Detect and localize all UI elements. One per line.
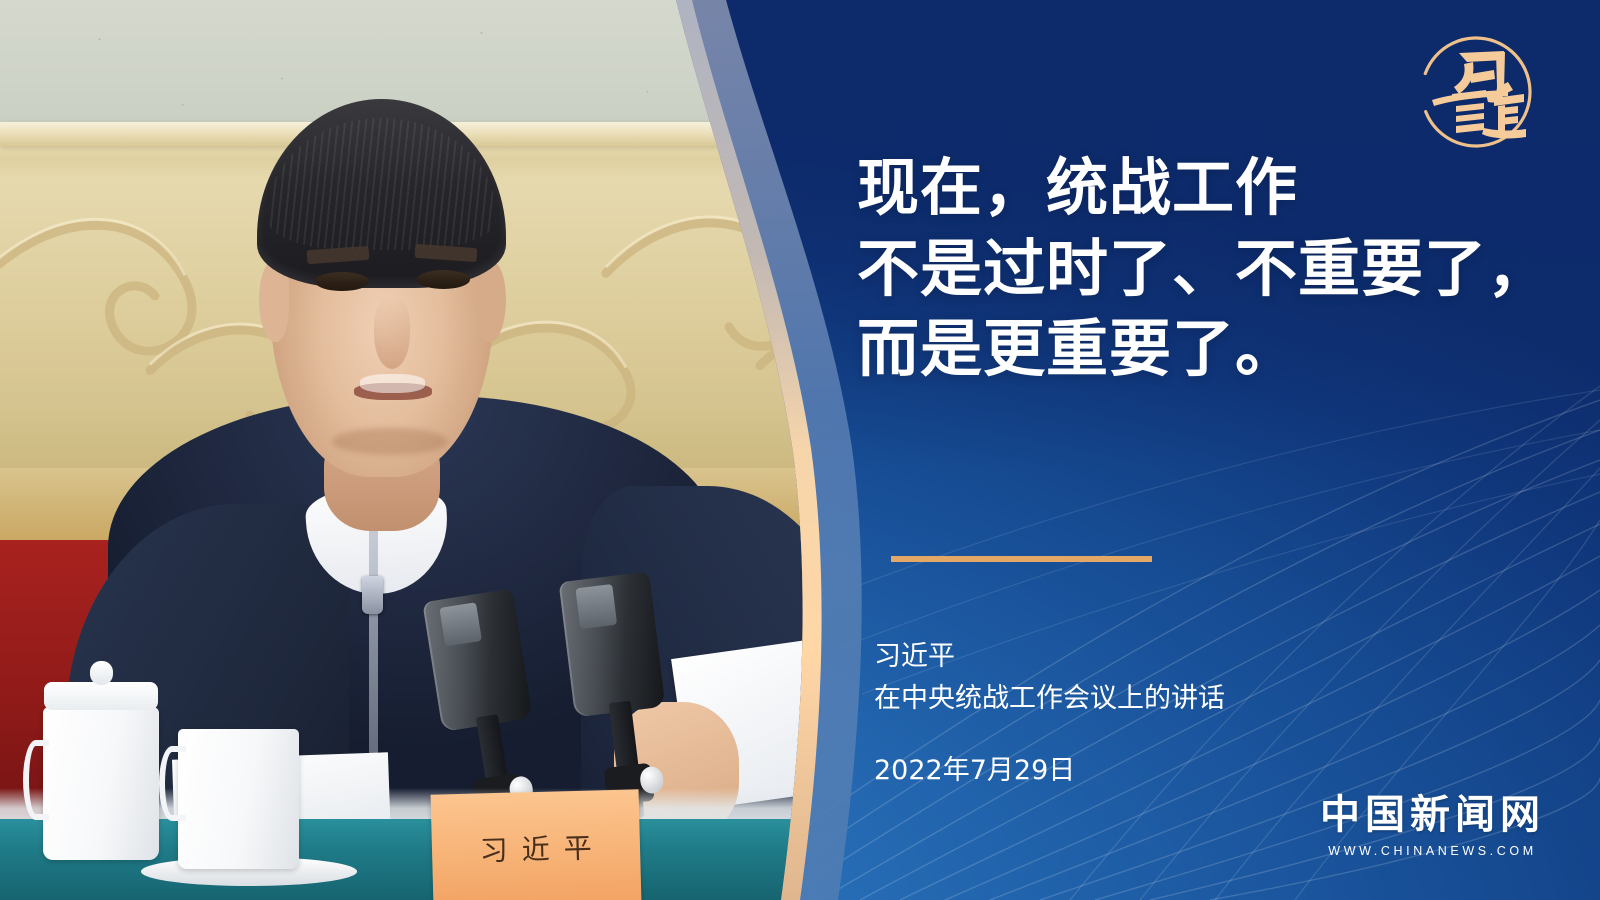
attribution-block: 习近平 在中央统战工作会议上的讲话 2022年7月29日 (874, 636, 1225, 792)
jacket-zipper-pull (362, 576, 384, 614)
subject-chin-shadow (332, 428, 448, 455)
chinanews-brand: 中国新闻网 WWW.CHINANEWS.COM (1320, 795, 1545, 858)
gold-divider-rule (891, 556, 1152, 562)
portrait-photo: 习近平 (0, 0, 830, 900)
brand-name-cn: 中国新闻网 (1320, 795, 1545, 835)
quote-text: 现在，统战工作 不是过时了、不重要了， 而是更重要了。 (857, 148, 1557, 390)
water-cup (178, 729, 298, 869)
quote-line-2: 不是过时了、不重要了， (857, 229, 1557, 310)
jacket-zipper (369, 522, 378, 792)
quote-line-3: 而是更重要了。 (857, 309, 1557, 390)
attribution-speaker: 习近平 (874, 636, 1225, 678)
subject-mouth (354, 383, 432, 400)
brand-url: WWW.CHINANEWS.COM (1320, 844, 1545, 858)
name-card-text: 习近平 (465, 826, 606, 870)
attribution-occasion: 在中央统战工作会议上的讲话 (874, 678, 1225, 720)
lidded-tea-cup (43, 707, 159, 860)
subject-nose (374, 297, 411, 369)
poster-root: 习近平 (0, 0, 1600, 900)
name-card: 习近平 (430, 789, 640, 900)
attribution-date: 2022年7月29日 (874, 750, 1225, 792)
xi-yan-dao-seal-logo (1412, 28, 1540, 156)
subject-right-eye (417, 270, 470, 289)
quote-line-1: 现在，统战工作 (857, 148, 1557, 229)
subject-left-eye (315, 272, 368, 291)
